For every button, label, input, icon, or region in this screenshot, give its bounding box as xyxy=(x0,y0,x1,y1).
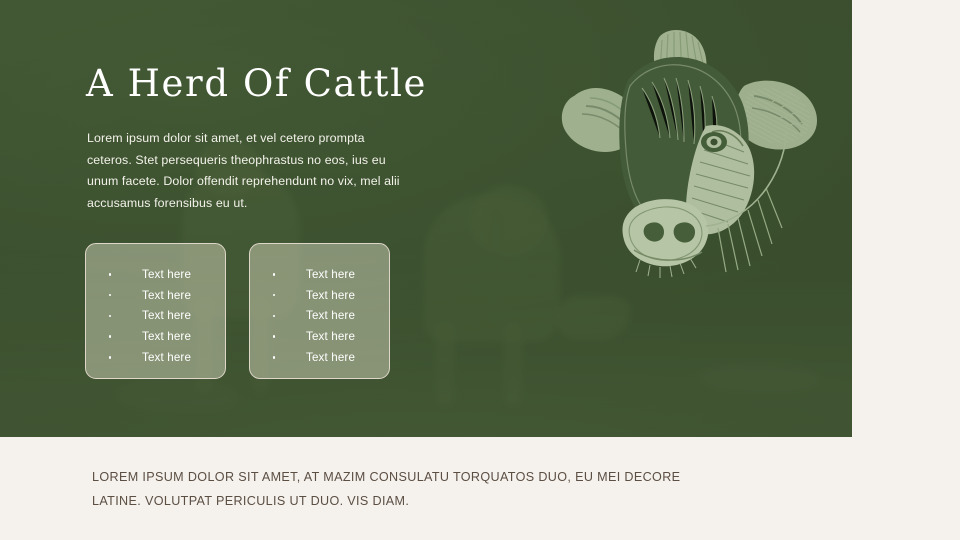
list-item[interactable]: Text here xyxy=(86,285,225,306)
list-item[interactable]: Text here xyxy=(86,264,225,285)
list-item-label: Text here xyxy=(142,309,191,322)
bullet-dot-icon xyxy=(263,335,285,338)
list-item[interactable]: Text here xyxy=(86,326,225,347)
list-item[interactable]: Text here xyxy=(250,326,389,347)
list-item-label: Text here xyxy=(306,289,355,302)
list-item[interactable]: Text here xyxy=(86,306,225,327)
bullet-dot-icon xyxy=(263,294,285,297)
list-item-label: Text here xyxy=(142,351,191,364)
list-item-label: Text here xyxy=(142,330,191,343)
bullet-list-left: Text here Text here Text here Text here xyxy=(86,264,225,368)
intro-paragraph: Lorem ipsum dolor sit amet, et vel ceter… xyxy=(87,128,405,214)
bullet-dot-icon xyxy=(99,315,121,318)
bullet-card-right[interactable]: Text here Text here Text here Text here xyxy=(249,243,390,379)
bullet-dot-icon xyxy=(263,315,285,318)
bullet-dot-icon xyxy=(263,356,285,359)
bullet-dot-icon xyxy=(99,294,121,297)
list-item[interactable]: Text here xyxy=(250,285,389,306)
cow-head-illustration xyxy=(556,28,828,278)
bullet-dot-icon xyxy=(99,356,121,359)
list-item-label: Text here xyxy=(306,309,355,322)
list-item[interactable]: Text here xyxy=(250,306,389,327)
list-item-label: Text here xyxy=(306,351,355,364)
list-item[interactable]: Text here xyxy=(250,347,389,368)
bullet-list-right: Text here Text here Text here Text here xyxy=(250,264,389,368)
bullet-card-left[interactable]: Text here Text here Text here Text here xyxy=(85,243,226,379)
bullet-dot-icon xyxy=(263,273,285,276)
page-title: A Herd Of Cattle xyxy=(86,62,427,105)
list-item-label: Text here xyxy=(142,289,191,302)
list-item-label: Text here xyxy=(142,268,191,281)
bullet-dot-icon xyxy=(99,335,121,338)
list-item-label: Text here xyxy=(306,330,355,343)
footer-caption: Lorem ipsum dolor sit amet, at mazim con… xyxy=(92,465,732,513)
list-item-label: Text here xyxy=(306,268,355,281)
slide: A Herd Of Cattle Lorem ipsum dolor sit a… xyxy=(0,0,960,540)
list-item[interactable]: Text here xyxy=(86,347,225,368)
bullet-card-group: Text here Text here Text here Text here xyxy=(85,243,390,379)
bullet-dot-icon xyxy=(99,273,121,276)
hero-panel: A Herd Of Cattle Lorem ipsum dolor sit a… xyxy=(0,0,852,437)
list-item[interactable]: Text here xyxy=(250,264,389,285)
